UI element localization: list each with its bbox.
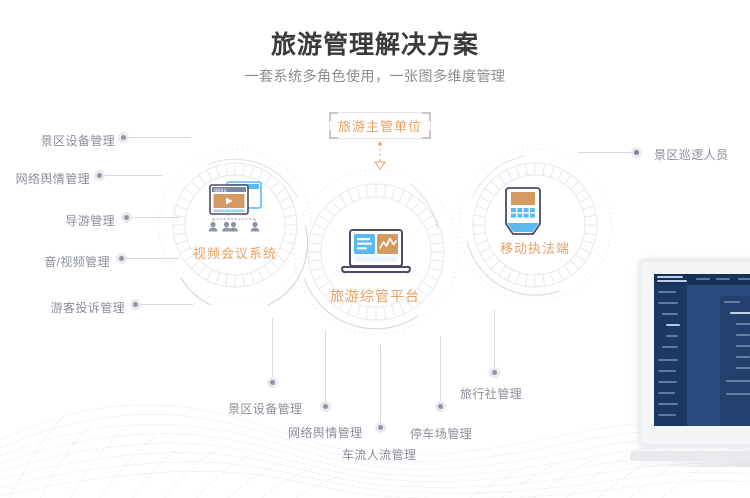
laptop-base — [630, 451, 750, 461]
svg-text:视频会议: 视频会议 — [214, 187, 228, 192]
bottom-node-line-4 — [494, 310, 495, 368]
hub-caption-mobile-enforcement: 移动执法端 — [455, 238, 615, 257]
bottom-node-dot-0[interactable] — [267, 377, 278, 388]
left-node-label-0[interactable]: 景区设备管理 — [10, 132, 115, 149]
dashboard-topbar — [654, 274, 750, 285]
bottom-node-dot-2[interactable] — [375, 422, 386, 433]
authority-box[interactable]: 旅游主管单位 — [329, 112, 431, 139]
bottom-node-label-1[interactable]: 网络舆情管理 — [288, 424, 362, 441]
dashboard-screen — [654, 274, 750, 426]
left-node-label-2[interactable]: 导游管理 — [10, 212, 115, 229]
dashboard-content — [687, 285, 750, 426]
bottom-node-dot-4[interactable] — [489, 367, 500, 378]
left-node-dot-0[interactable] — [118, 132, 129, 143]
bottom-node-label-0[interactable]: 景区设备管理 — [228, 400, 302, 417]
left-node-line-2 — [132, 217, 180, 218]
right-node-line-0 — [578, 152, 632, 153]
laptop-dashboard-preview — [630, 258, 750, 473]
left-node-label-1[interactable]: 网络舆情管理 — [0, 170, 90, 187]
bottom-node-dot-1[interactable] — [320, 401, 331, 412]
page-title: 旅游管理解决方案 — [0, 25, 750, 61]
dashboard-tree-panel — [720, 296, 750, 426]
bottom-node-line-3 — [440, 336, 441, 402]
left-node-dot-3[interactable] — [116, 253, 127, 264]
laptop-dashboard-icon — [339, 228, 413, 278]
solution-diagram-page: 旅游管理解决方案 一套系统多角色使用，一张图多维度管理 旅游主管单位 视频会议 — [0, 0, 750, 498]
bottom-node-line-2 — [380, 345, 381, 423]
left-node-line-4 — [141, 304, 193, 305]
bottom-node-line-0 — [272, 318, 273, 378]
bottom-node-label-4[interactable]: 旅行社管理 — [460, 385, 522, 402]
left-node-label-3[interactable]: 音/视频管理 — [5, 253, 110, 270]
video-window-icon: 视频会议 — [202, 178, 268, 234]
mobile-device-icon — [501, 185, 545, 239]
laptop-shadow — [622, 461, 750, 467]
hub-caption-tourism-platform: 旅游综管平台 — [295, 286, 455, 306]
bottom-node-label-2[interactable]: 车流人流管理 — [342, 446, 416, 463]
bottom-node-label-3[interactable]: 停车场管理 — [410, 425, 472, 442]
right-node-dot-0[interactable] — [631, 147, 642, 158]
dashboard-sidebar — [654, 285, 687, 426]
left-node-label-4[interactable]: 游客投诉管理 — [20, 299, 125, 316]
left-node-dot-4[interactable] — [130, 299, 141, 310]
hub-caption-video-conference: 视频会议系统 — [155, 243, 315, 262]
bottom-node-dot-3[interactable] — [435, 401, 446, 412]
left-node-dot-2[interactable] — [121, 212, 132, 223]
authority-label: 旅游主管单位 — [330, 113, 430, 138]
right-node-label-0[interactable]: 景区巡逻人员 — [654, 146, 728, 163]
left-node-dot-1[interactable] — [94, 170, 105, 181]
laptop-body — [638, 258, 750, 448]
left-node-line-3 — [127, 258, 179, 259]
left-node-line-1 — [105, 175, 163, 176]
bottom-node-line-1 — [325, 330, 326, 402]
left-node-line-0 — [129, 137, 191, 138]
page-subtitle: 一套系统多角色使用，一张图多维度管理 — [0, 66, 750, 86]
